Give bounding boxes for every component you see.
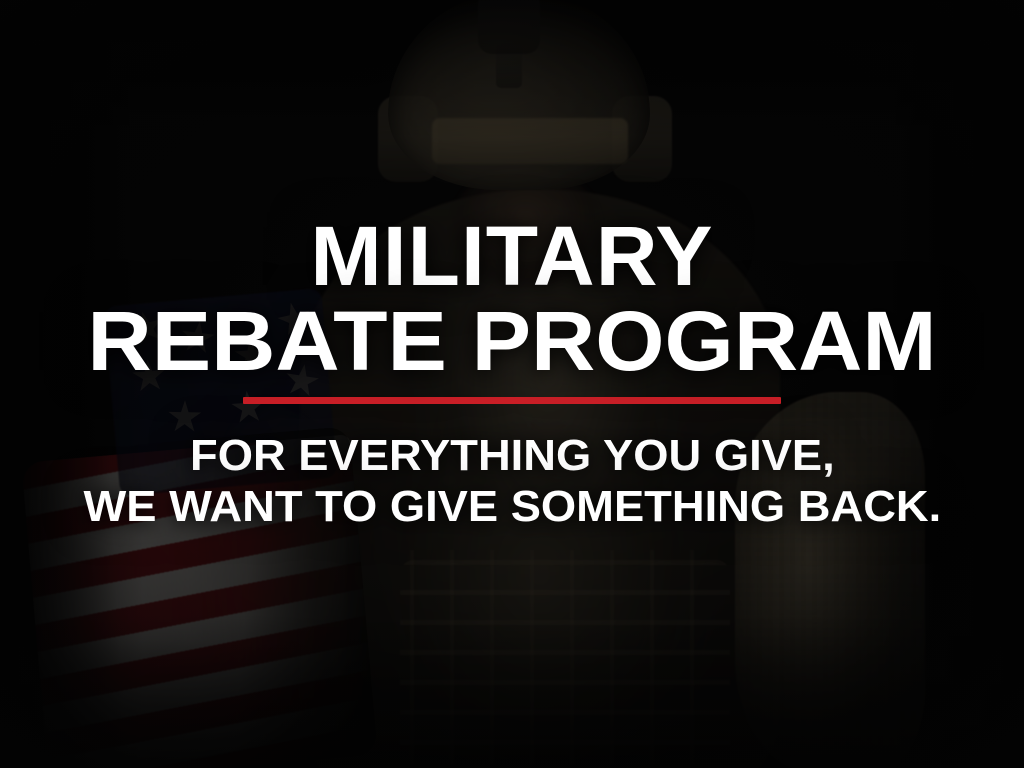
subheadline-line-1: FOR EVERYTHING YOU GIVE, [83, 430, 941, 481]
military-rebate-poster: MILITARY REBATE PROGRAM FOR EVERYTHING Y… [0, 0, 1024, 768]
headline-line-1: MILITARY [0, 216, 1024, 297]
poster-content: MILITARY REBATE PROGRAM FOR EVERYTHING Y… [0, 0, 1024, 768]
headline-line-2: REBATE PROGRAM [0, 301, 1024, 382]
subheadline-line-2: WE WANT TO GIVE SOMETHING BACK. [83, 481, 941, 532]
subheadline: FOR EVERYTHING YOU GIVE, WE WANT TO GIVE… [83, 430, 941, 532]
page-title: MILITARY REBATE PROGRAM [0, 0, 1024, 381]
red-divider-rule [243, 397, 781, 404]
